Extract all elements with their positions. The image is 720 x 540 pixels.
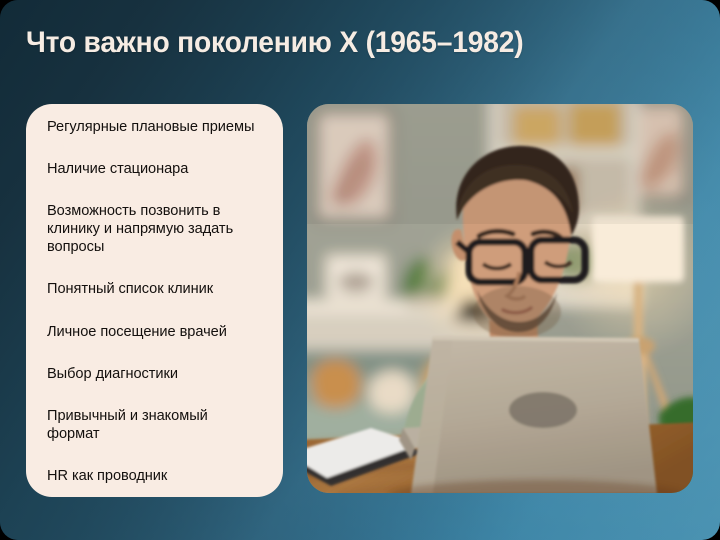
list-item: Привычный и знакомый формат [47,407,263,443]
photo-illustration [307,104,693,493]
list-item: Личное посещение врачей [47,323,263,341]
slide-root: Что важно поколению X (1965–1982) Регуля… [0,0,720,540]
list-item: Наличие стационара [47,160,263,178]
list-item: HR как проводник [47,467,263,485]
list-item: Понятный список клиник [47,280,263,298]
page-title: Что важно поколению X (1965–1982) [26,24,628,62]
hero-photo [307,104,693,493]
list-item: Возможность позвонить в клинику и напрям… [47,202,263,256]
list-item: Выбор диагностики [47,365,263,383]
list-item: Регулярные плановые приемы [47,118,263,136]
benefits-card: Регулярные плановые приемы Наличие стаци… [26,104,283,497]
